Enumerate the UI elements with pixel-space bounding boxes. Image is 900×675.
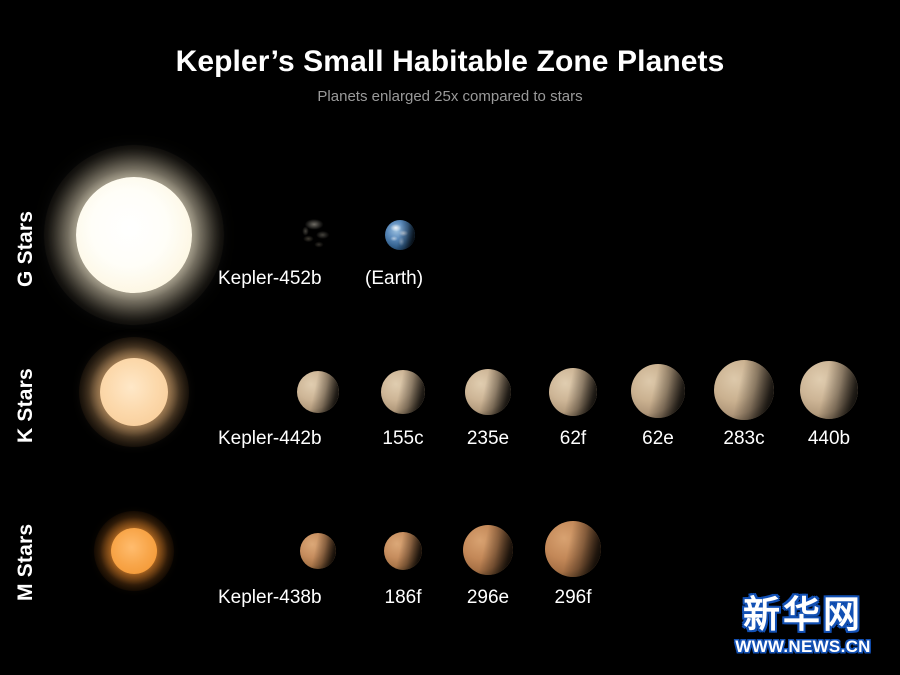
planet-label-kepler-296f: 296f (533, 587, 613, 609)
planet-terminator (385, 220, 415, 250)
watermark-cn-text: 新华网 (724, 595, 882, 635)
planet-kepler-62f (549, 368, 597, 416)
row-label-m-stars: M Stars (14, 524, 38, 601)
planet-kepler-283c (714, 360, 774, 420)
poster-canvas: Kepler’s Small Habitable Zone Planets Pl… (0, 0, 900, 675)
planet-kepler-62e (631, 364, 685, 418)
planet-kepler-235e (465, 369, 511, 415)
page-subtitle: Planets enlarged 25x compared to stars (0, 88, 900, 106)
g-star (76, 177, 192, 293)
planet-label-kepler-440b: 440b (789, 428, 869, 450)
row-label-g-stars: G Stars (14, 211, 38, 287)
watermark-xinhua: 新华网 WWW.NEWS.CN (724, 595, 882, 661)
planet-label-earth: (Earth) (365, 268, 485, 290)
page-title: Kepler’s Small Habitable Zone Planets (0, 44, 900, 80)
planet-kepler-186f (384, 532, 422, 570)
planet-kepler-296e (463, 525, 513, 575)
planet-label-kepler-186f: 186f (363, 587, 443, 609)
planet-kepler-438b (300, 533, 336, 569)
planet-kepler-452b (294, 210, 342, 258)
watermark-url-text: WWW.NEWS.CN (724, 637, 882, 656)
planet-kepler-440b (800, 361, 858, 419)
planet-label-kepler-62f: 62f (533, 428, 613, 450)
planet-label-kepler-235e: 235e (448, 428, 528, 450)
planet-label-kepler-296e: 296e (448, 587, 528, 609)
planet-earth (385, 220, 415, 250)
row-label-k-stars: K Stars (14, 368, 38, 443)
planet-kepler-442b (297, 371, 339, 413)
m-star (111, 528, 157, 574)
planet-label-kepler-283c: 283c (704, 428, 784, 450)
planet-label-kepler-155c: 155c (363, 428, 443, 450)
k-star (100, 358, 168, 426)
header: Kepler’s Small Habitable Zone Planets Pl… (0, 44, 900, 106)
planet-label-kepler-62e: 62e (618, 428, 698, 450)
planet-kepler-296f (545, 521, 601, 577)
planet-kepler-155c (381, 370, 425, 414)
planet-terminator (294, 210, 342, 258)
